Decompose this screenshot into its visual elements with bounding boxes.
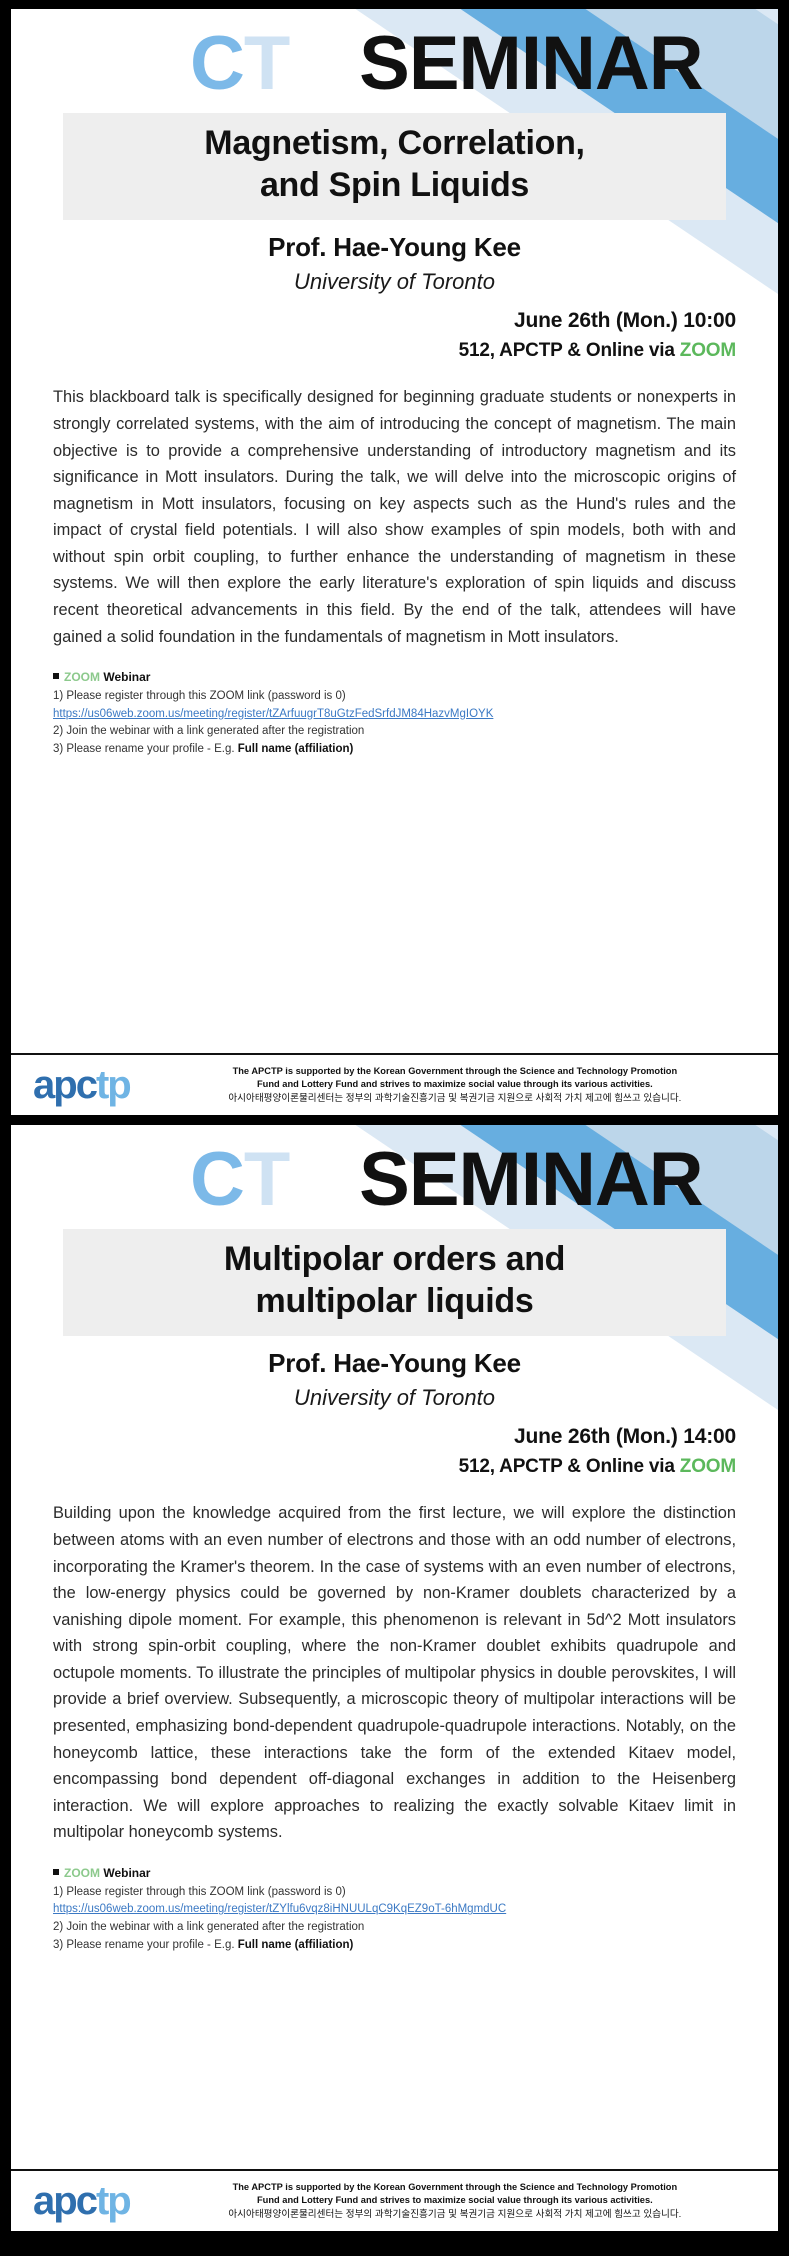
brand-letter-p: P: [140, 1137, 190, 1222]
footer-support-text: The APCTP is supported by the Korean Gov…: [146, 2181, 764, 2222]
webinar-heading: ZOOM Webinar: [53, 668, 736, 687]
square-bullet-icon: [53, 673, 59, 679]
seminar-meta: June 26th (Mon.) 10:00 512, APCTP & Onli…: [11, 309, 778, 362]
logo-letter-p2: p: [107, 1063, 129, 1107]
footer-en-line-1: The APCTP is supported by the Korean Gov…: [146, 2181, 764, 2194]
seminar-title-line-2: multipolar liquids: [75, 1281, 714, 1322]
apctp-logo: apctp: [33, 2181, 146, 2221]
footer-kr-line: 아시아태평양이론물리센터는 정부의 과학기술진흥기금 및 복권기금 지원으로 사…: [146, 2208, 764, 2222]
seminar-title-line-1: Magnetism, Correlation,: [75, 123, 714, 164]
webinar-info: ZOOM Webinar 1) Please register through …: [53, 1864, 736, 1955]
seminar-meta: June 26th (Mon.) 14:00 512, APCTP & Onli…: [11, 1425, 778, 1478]
webinar-step-3: 3) Please rename your profile - E.g. Ful…: [53, 741, 736, 759]
seminar-title-box: Multipolar orders and multipolar liquids: [63, 1229, 726, 1336]
seminar-poster-1: APCTP SEMINAR Magnetism, Correlation, an…: [10, 8, 779, 1116]
footer-en-line-2: Fund and Lottery Fund and strives to max…: [146, 2194, 764, 2207]
brand-seminar-word: SEMINAR: [359, 21, 702, 106]
brand-letter-c: C: [190, 21, 244, 106]
webinar-step-3-bold: Full name (affiliation): [238, 1939, 354, 1951]
brand-letter-t: T: [244, 21, 289, 106]
webinar-register-link[interactable]: https://us06web.zoom.us/meeting/register…: [53, 1901, 506, 1919]
poster-header: APCTP SEMINAR: [11, 9, 778, 105]
webinar-step-1: 1) Please register through this ZOOM lin…: [53, 688, 736, 706]
webinar-heading-rest: Webinar: [100, 1866, 150, 1880]
seminar-location-zoom: ZOOM: [680, 1456, 736, 1477]
seminar-abstract: This blackboard talk is specifically des…: [53, 384, 736, 650]
logo-letter-t: t: [96, 1063, 107, 1107]
brand-letter-p2: P: [289, 21, 339, 106]
brand-letter-t: T: [244, 1137, 289, 1222]
logo-letter-c: c: [76, 1063, 96, 1107]
speaker-name: Prof. Hae-Young Kee: [11, 232, 778, 263]
logo-letter-p2: p: [107, 2179, 129, 2223]
webinar-step-3-bold: Full name (affiliation): [238, 743, 354, 755]
webinar-step-3: 3) Please rename your profile - E.g. Ful…: [53, 1937, 736, 1955]
logo-letter-p: p: [53, 1063, 75, 1107]
seminar-title-box: Magnetism, Correlation, and Spin Liquids: [63, 113, 726, 220]
logo-letter-a: a: [33, 2179, 53, 2223]
seminar-location-text: 512, APCTP & Online via: [459, 1456, 680, 1477]
poster-header: APCTP SEMINAR: [11, 1125, 778, 1221]
footer-en-line-2: Fund and Lottery Fund and strives to max…: [146, 1078, 764, 1091]
seminar-datetime: June 26th (Mon.) 10:00: [11, 309, 736, 333]
footer-en-line-1: The APCTP is supported by the Korean Gov…: [146, 1065, 764, 1078]
seminar-poster-2: APCTP SEMINAR Multipolar orders and mult…: [10, 1124, 779, 2232]
footer-support-text: The APCTP is supported by the Korean Gov…: [146, 1065, 764, 1106]
speaker-affiliation: University of Toronto: [11, 269, 778, 295]
seminar-abstract: Building upon the knowledge acquired fro…: [53, 1500, 736, 1846]
seminar-location: 512, APCTP & Online via ZOOM: [11, 340, 736, 362]
seminar-location-text: 512, APCTP & Online via: [459, 340, 680, 361]
brand-title: APCTP SEMINAR: [45, 1143, 744, 1217]
speaker-affiliation: University of Toronto: [11, 1385, 778, 1411]
brand-letter-p: P: [140, 21, 190, 106]
webinar-heading-zoom: ZOOM: [64, 1866, 100, 1880]
apctp-logo: apctp: [33, 1065, 146, 1105]
brand-letter-c: C: [190, 1137, 244, 1222]
brand-seminar-word: SEMINAR: [359, 1137, 702, 1222]
brand-letter-a: A: [86, 1137, 140, 1222]
logo-letter-a: a: [33, 1063, 53, 1107]
poster-footer: apctp The APCTP is supported by the Kore…: [11, 2169, 778, 2231]
webinar-info: ZOOM Webinar 1) Please register through …: [53, 668, 736, 759]
logo-letter-p: p: [53, 2179, 75, 2223]
seminar-title-line-2: and Spin Liquids: [75, 165, 714, 206]
webinar-heading-zoom: ZOOM: [64, 670, 100, 684]
webinar-step-3-prefix: 3) Please rename your profile - E.g.: [53, 743, 238, 755]
brand-title: APCTP SEMINAR: [45, 27, 744, 101]
footer-kr-line: 아시아태평양이론물리센터는 정부의 과학기술진흥기금 및 복권기금 지원으로 사…: [146, 1092, 764, 1106]
poster-footer: apctp The APCTP is supported by the Kore…: [11, 1053, 778, 1115]
webinar-heading-rest: Webinar: [100, 670, 150, 684]
webinar-heading: ZOOM Webinar: [53, 1864, 736, 1883]
webinar-step-1: 1) Please register through this ZOOM lin…: [53, 1884, 736, 1902]
seminar-datetime: June 26th (Mon.) 14:00: [11, 1425, 736, 1449]
brand-letter-a: A: [86, 21, 140, 106]
webinar-step-2: 2) Join the webinar with a link generate…: [53, 723, 736, 741]
seminar-location: 512, APCTP & Online via ZOOM: [11, 1456, 736, 1478]
webinar-step-2: 2) Join the webinar with a link generate…: [53, 1919, 736, 1937]
logo-letter-t: t: [96, 2179, 107, 2223]
webinar-register-link[interactable]: https://us06web.zoom.us/meeting/register…: [53, 706, 493, 724]
seminar-title-line-1: Multipolar orders and: [75, 1239, 714, 1280]
logo-letter-c: c: [76, 2179, 96, 2223]
speaker-name: Prof. Hae-Young Kee: [11, 1348, 778, 1379]
seminar-location-zoom: ZOOM: [680, 340, 736, 361]
brand-letter-p2: P: [289, 1137, 339, 1222]
square-bullet-icon: [53, 1869, 59, 1875]
webinar-step-3-prefix: 3) Please rename your profile - E.g.: [53, 1939, 238, 1951]
